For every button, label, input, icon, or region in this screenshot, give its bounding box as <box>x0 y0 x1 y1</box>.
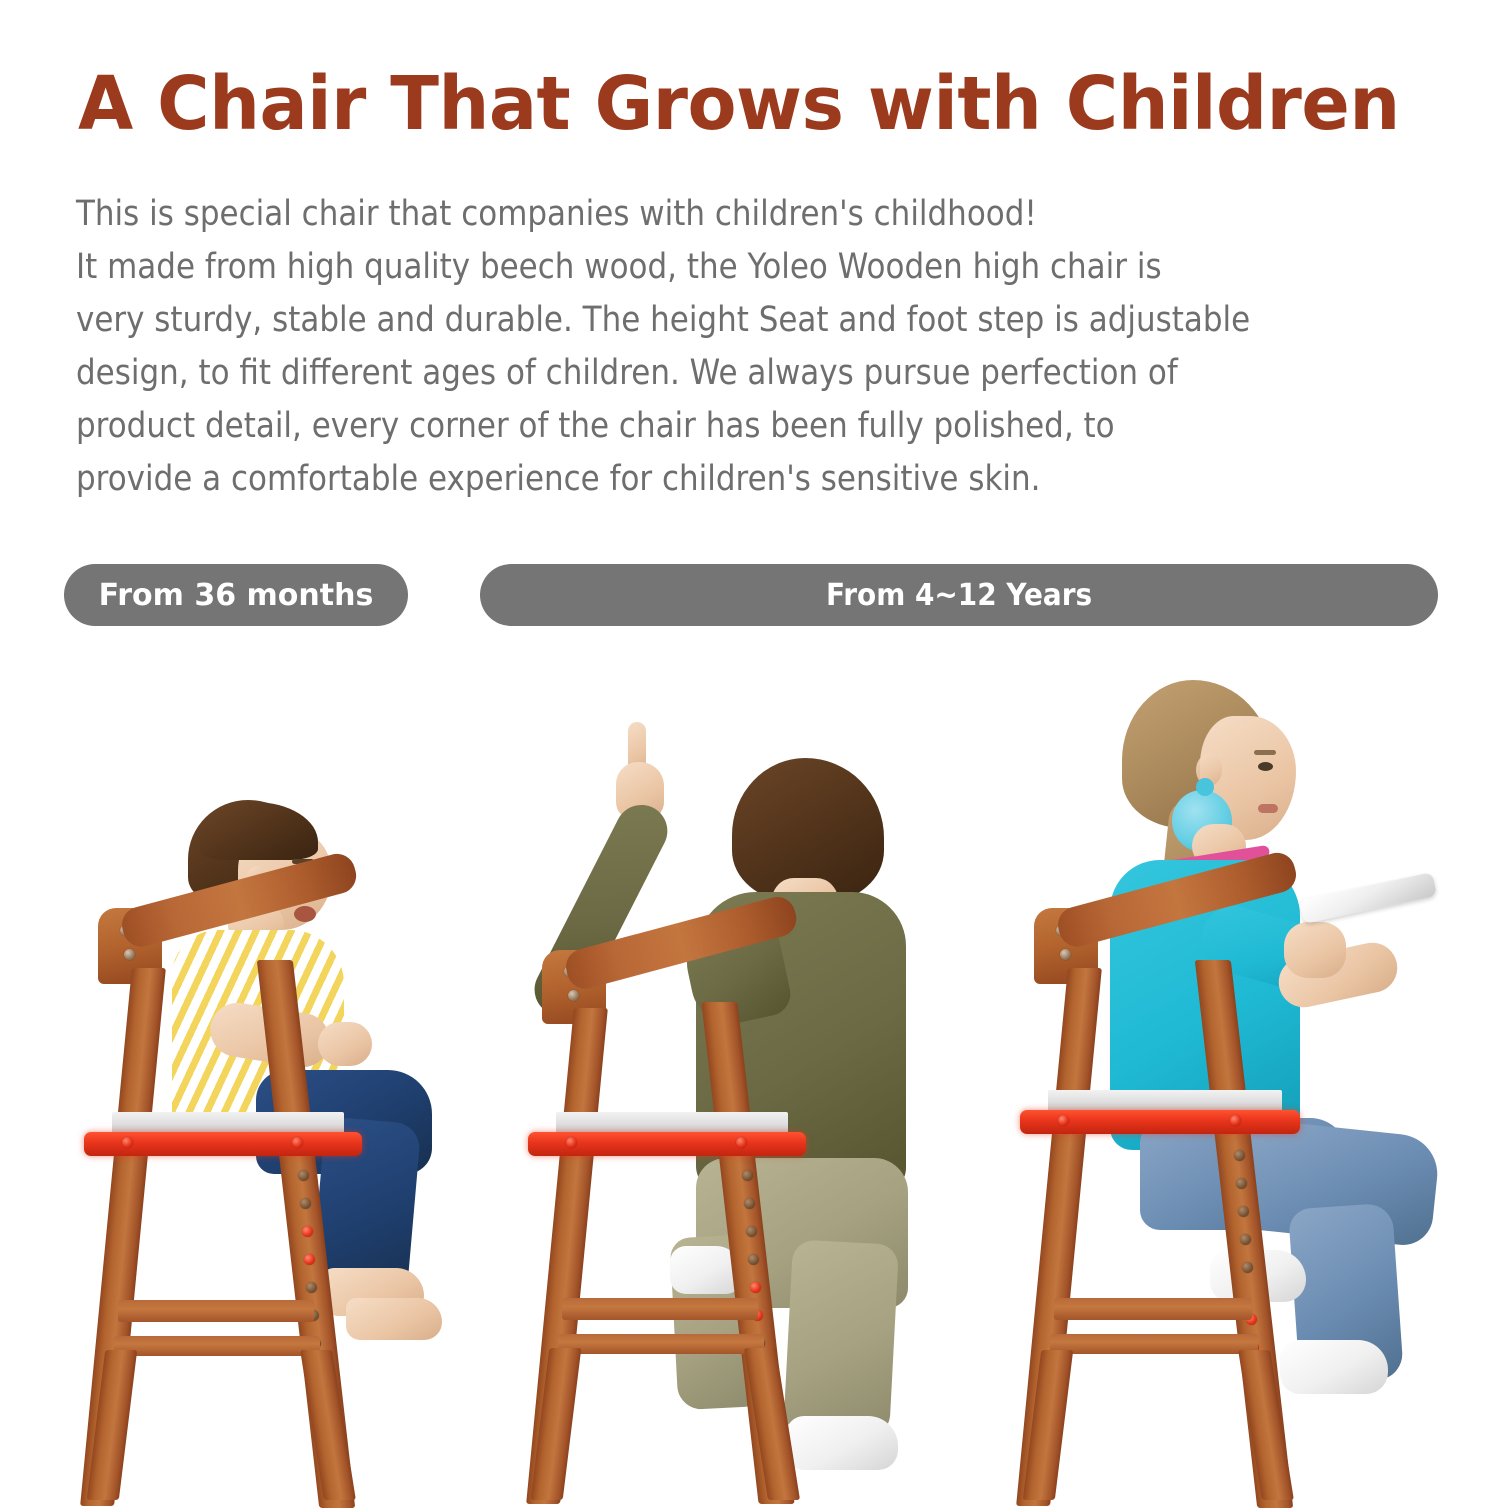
rail-screw <box>1058 1115 1069 1126</box>
chair-crossbar <box>114 1336 320 1356</box>
rail-screw <box>122 1137 133 1148</box>
age-range-badge-row: From 36 months From 4~12 Years <box>0 564 1500 628</box>
rail-screw <box>566 1137 577 1148</box>
age-badge-4-12-years: From 4~12 Years <box>480 564 1438 626</box>
screw <box>1060 949 1071 960</box>
age-badge-36-months: From 36 months <box>64 564 408 626</box>
adjust-hole <box>744 1198 755 1209</box>
adjust-hole <box>746 1226 757 1237</box>
adjust-hole <box>306 1282 317 1293</box>
chair-crossbar <box>558 1334 764 1354</box>
adjust-hole-active <box>302 1226 313 1237</box>
chair-back-rail <box>562 893 800 993</box>
chair-leg-front <box>300 1350 356 1500</box>
adjust-hole <box>300 1198 311 1209</box>
adjust-hole <box>1240 1234 1251 1245</box>
description-line: product detail, every corner of the chai… <box>76 400 1308 453</box>
adjust-hole <box>1234 1150 1245 1161</box>
chair-leg-front <box>1238 1350 1294 1500</box>
description-line: design, to fit different ages of childre… <box>76 347 1308 400</box>
scene-girl-seated-tablet <box>1000 650 1470 1500</box>
adjust-hole <box>1238 1206 1249 1217</box>
chair-footrest <box>562 1298 758 1320</box>
adjust-hole <box>748 1254 759 1265</box>
chair-toddler <box>60 650 500 1500</box>
adjust-hole <box>742 1170 753 1181</box>
chair-crossbar <box>1050 1334 1258 1354</box>
chair-footrest <box>118 1300 314 1322</box>
page-title: A Chair That Grows with Children <box>78 62 1390 146</box>
adjust-hole <box>1236 1178 1247 1189</box>
description-line: very sturdy, stable and durable. The hei… <box>76 294 1308 347</box>
product-photo-strip <box>0 650 1500 1500</box>
chair-back-rail <box>118 850 360 951</box>
age-badge-label: From 36 months <box>99 578 374 613</box>
product-feature-panel: A Chair That Grows with Children This is… <box>0 0 1500 1500</box>
rail-screw <box>1230 1115 1241 1126</box>
description-paragraph: This is special chair that companies wit… <box>76 188 1308 506</box>
adjust-hole <box>1242 1262 1253 1273</box>
description-line: This is special chair that companies wit… <box>76 188 1308 241</box>
chair-seat-board <box>112 1112 344 1134</box>
chair-back-rail <box>1054 849 1300 951</box>
scene-toddler-seated <box>60 650 500 1500</box>
chair-seat-board <box>1048 1090 1282 1112</box>
screw <box>568 990 579 1001</box>
description-line: provide a comfortable experience for chi… <box>76 453 1308 506</box>
rail-screw <box>736 1137 747 1148</box>
scene-boy-standing-pointing <box>520 650 980 1500</box>
rail-screw <box>292 1137 303 1148</box>
adjust-hole-active <box>304 1254 315 1265</box>
description-line: It made from high quality beech wood, th… <box>76 241 1308 294</box>
adjust-hole <box>298 1170 309 1181</box>
chair-seat-board <box>556 1112 788 1134</box>
screw <box>124 949 135 960</box>
age-badge-label: From 4~12 Years <box>826 578 1092 613</box>
adjust-hole-active <box>750 1282 761 1293</box>
chair-girl <box>1000 650 1470 1500</box>
chair-footrest <box>1054 1298 1252 1320</box>
chair-boy <box>520 650 980 1500</box>
